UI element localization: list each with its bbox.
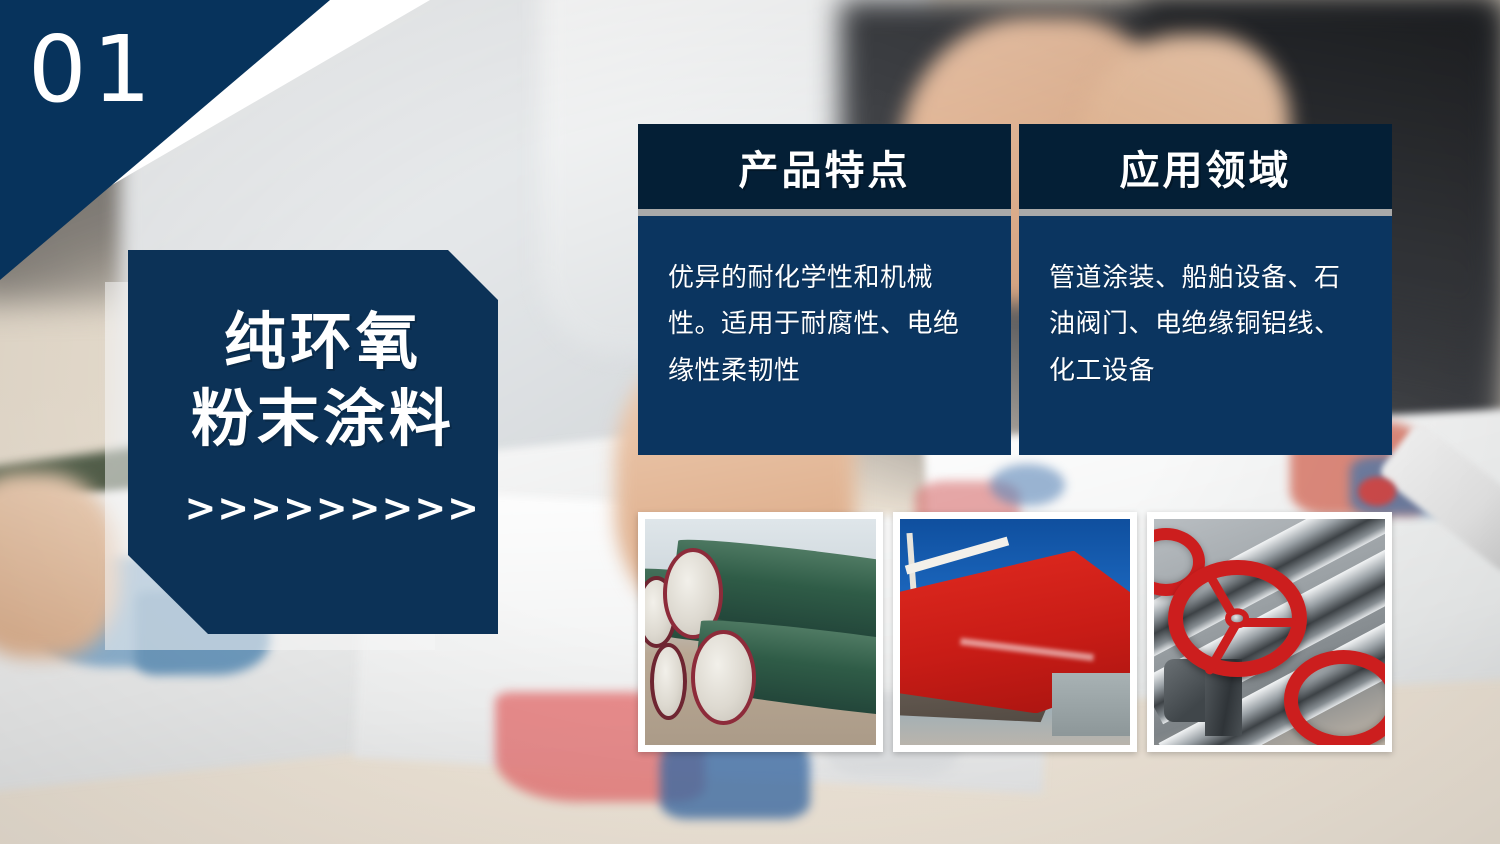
ship-dock-background — [1052, 673, 1130, 736]
section-number: 01 — [28, 24, 157, 116]
handwheel-spoke — [1204, 621, 1241, 676]
chevron-arrows-icon: >>>>>>>>> — [128, 489, 498, 527]
panel-heading-text: 应用领域 — [1120, 138, 1292, 196]
thumbnail-red-valve-handwheels — [1147, 512, 1392, 752]
panel-divider — [1019, 209, 1392, 216]
info-panels: 产品特点 优异的耐化学性和机械性。适用于耐腐性、电绝缘性柔韧性 应用领域 管道涂… — [638, 124, 1392, 455]
red-valve-handwheels-photo — [1154, 519, 1385, 745]
photo-strip — [638, 512, 1392, 752]
panel-product-features: 产品特点 优异的耐化学性和机械性。适用于耐腐性、电绝缘性柔韧性 — [638, 124, 1011, 455]
valve-handwheel-main — [1168, 560, 1306, 678]
slide-root: 01 纯环氧 粉末涂料 >>>>>>>>> 产品特点 优异的耐化学性和机械性。适… — [0, 0, 1500, 844]
panel-header-product-features: 产品特点 — [638, 124, 1011, 209]
pipe-cap-back-bottom — [650, 643, 687, 720]
title-line-1: 纯环氧 — [128, 308, 498, 377]
handwheel-hub — [1225, 609, 1249, 628]
panel-header-application-areas: 应用领域 — [1019, 124, 1392, 209]
ship-deck-rail — [905, 536, 1009, 574]
panel-divider — [638, 209, 1011, 216]
title-line-2: 粉末涂料 — [128, 385, 498, 454]
panel-body-text: 优异的耐化学性和机械性。适用于耐腐性、电绝缘性柔韧性 — [668, 254, 983, 393]
thumbnail-red-ship-hull — [893, 512, 1138, 752]
panel-body-application-areas: 管道涂装、船舶设备、石油阀门、电绝缘铜铝线、化工设备 — [1019, 216, 1392, 455]
green-coated-pipes-photo — [645, 519, 876, 745]
title-card: 纯环氧 粉末涂料 >>>>>>>>> — [128, 250, 498, 634]
thumbnail-green-coated-pipes — [638, 512, 883, 752]
panel-application-areas: 应用领域 管道涂装、船舶设备、石油阀门、电绝缘铜铝线、化工设备 — [1019, 124, 1392, 455]
pipe-cap-lower — [691, 630, 756, 725]
panel-body-product-features: 优异的耐化学性和机械性。适用于耐腐性、电绝缘性柔韧性 — [638, 216, 1011, 455]
red-ship-hull-photo — [900, 519, 1131, 745]
panel-heading-text: 产品特点 — [739, 138, 911, 196]
panel-body-text: 管道涂装、船舶设备、石油阀门、电绝缘铜铝线、化工设备 — [1049, 254, 1364, 393]
valve-handwheel-front — [1284, 650, 1386, 745]
